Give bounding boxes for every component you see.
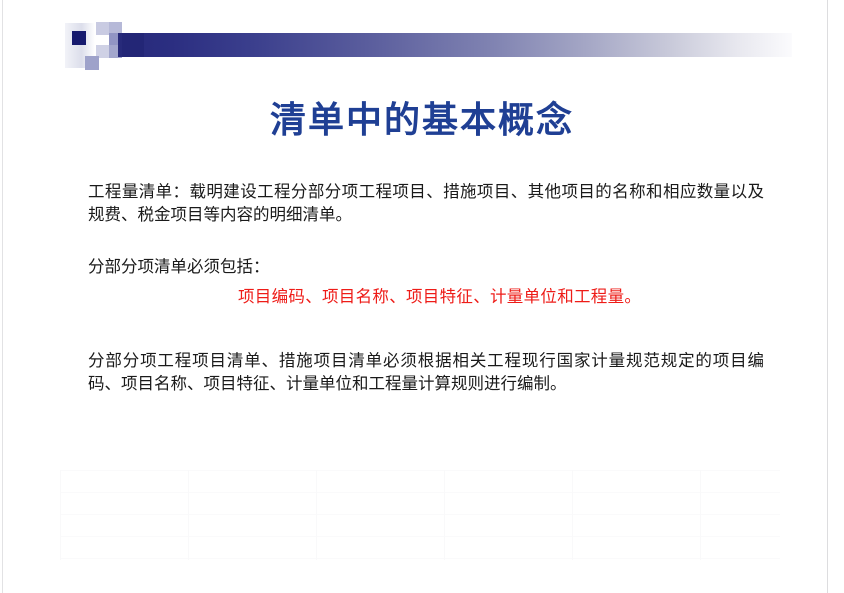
header-decoration — [0, 0, 844, 90]
slide-canvas: 清单中的基本概念 工程量清单：载明建设工程分部分项工程项目、措施项目、其他项目的… — [0, 0, 844, 593]
decoration-square-navy-1 — [72, 31, 86, 45]
decoration-square-navy-2 — [122, 33, 144, 57]
body-paragraph-3: 分部分项工程项目清单、措施项目清单必须根据相关工程现行国家计量规范规定的项目编码… — [88, 349, 764, 395]
decoration-square-lavender-1 — [96, 22, 109, 35]
body-paragraph-2: 分部分项清单必须包括： — [88, 255, 764, 278]
body-highlight-line: 项目编码、项目名称、项目特征、计量单位和工程量。 — [88, 286, 764, 309]
decoration-square-lavender-5 — [85, 56, 99, 70]
body-paragraph-1: 工程量清单：载明建设工程分部分项工程项目、措施项目、其他项目的名称和相应数量以及… — [88, 180, 764, 226]
decoration-gradient-bar — [118, 33, 792, 57]
slide-body: 工程量清单：载明建设工程分部分项工程项目、措施项目、其他项目的名称和相应数量以及… — [88, 180, 764, 395]
background-grid-artifact — [60, 470, 780, 560]
slide-title: 清单中的基本概念 — [0, 98, 844, 142]
